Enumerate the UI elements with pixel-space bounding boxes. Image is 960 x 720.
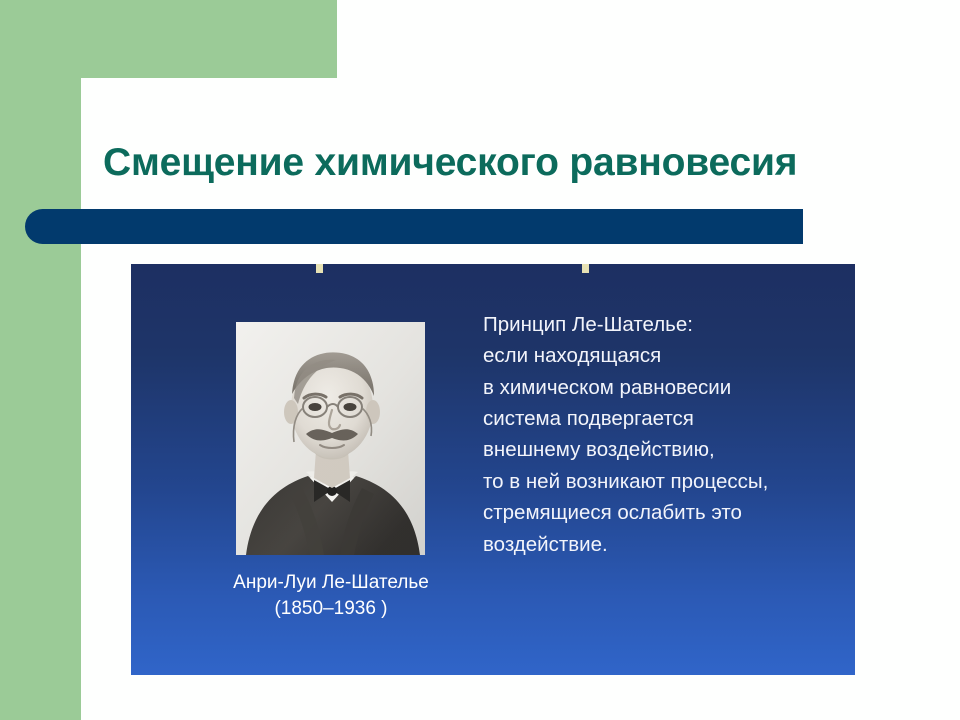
principle-line-2: если находящаяся (483, 340, 843, 371)
principle-line-1: Принцип Ле-Шателье: (483, 309, 843, 340)
panel-edge-mark-left (316, 264, 323, 273)
portrait-caption: Анри-Луи Ле-Шателье (1850–1936 ) (166, 570, 496, 621)
principle-line-7: стремящиеся ослабить это (483, 497, 843, 528)
principle-line-6: то в ней возникают процессы, (483, 466, 843, 497)
principle-line-3: в химическом равновесии (483, 372, 843, 403)
principle-text-block: Принцип Ле-Шателье: если находящаяся в х… (483, 309, 843, 560)
panel-edge-mark-right (582, 264, 589, 273)
portrait-caption-name: Анри-Луи Ле-Шателье (166, 570, 496, 596)
principle-line-5: внешнему воздействию, (483, 434, 843, 465)
page-title: Смещение химического равновесия (103, 142, 933, 185)
principle-line-8: воздействие. (483, 529, 843, 560)
content-panel: Анри-Луи Ле-Шателье (1850–1936 ) Принцип… (131, 264, 855, 675)
presentation-slide: Смещение химического равновесия (0, 0, 960, 720)
title-underline-bar (25, 209, 803, 244)
principle-line-4: система подвергается (483, 403, 843, 434)
portrait-le-chatelier (236, 322, 425, 555)
decorative-green-left-strip (0, 0, 81, 720)
portrait-caption-dates: (1850–1936 ) (166, 596, 496, 622)
decorative-green-top-block (0, 0, 337, 78)
